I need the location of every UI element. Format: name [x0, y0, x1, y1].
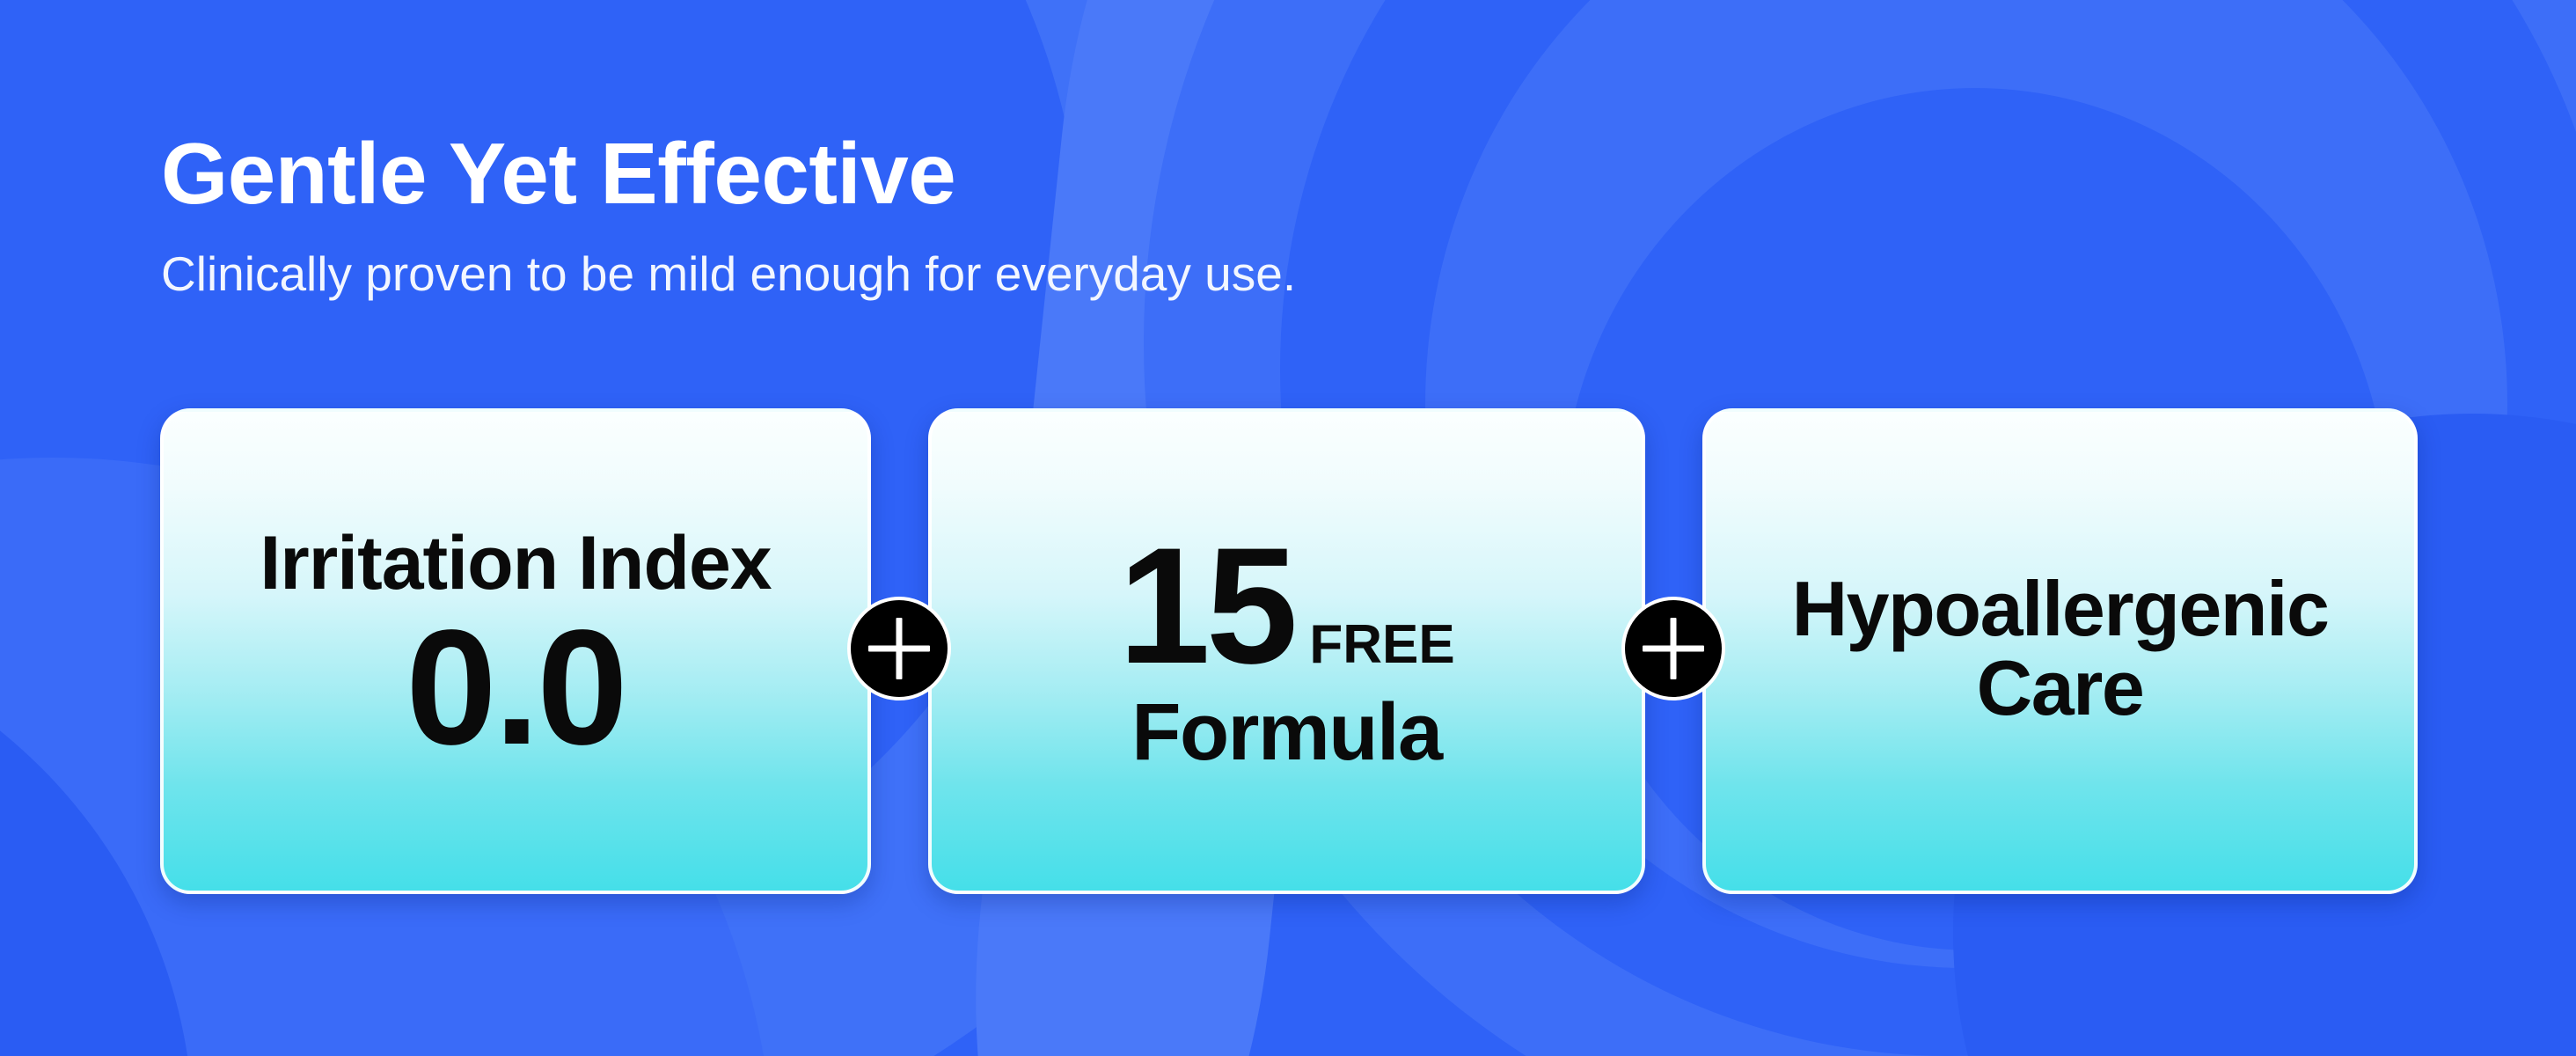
promo-banner: Gentle Yet Effective Clinically proven t…	[0, 0, 2576, 1056]
free-count-number: 15	[1118, 523, 1293, 688]
feature-card-irritation-index[interactable]: Irritation Index 0.0	[160, 408, 871, 894]
feature-card-hypoallergenic-care[interactable]: Hypoallergenic Care	[1702, 408, 2418, 894]
banner-copy: Gentle Yet Effective Clinically proven t…	[161, 130, 1296, 298]
card-content: Irritation Index 0.0	[237, 525, 794, 771]
free-qualifier-label: FREE	[1309, 618, 1454, 672]
irritation-index-label: Irritation Index	[260, 525, 771, 603]
plus-icon	[1621, 597, 1725, 700]
card-content: Hypoallergenic Care	[1769, 569, 2352, 728]
irritation-index-value: 0.0	[260, 605, 771, 772]
plus-icon	[847, 597, 951, 700]
page-title: Gentle Yet Effective	[161, 130, 1296, 216]
card-content: 15 FREE Formula	[1095, 523, 1477, 774]
formula-label: Formula	[1118, 692, 1454, 774]
feature-card-15-free-formula[interactable]: 15 FREE Formula	[928, 408, 1645, 894]
feature-card-row: Irritation Index 0.0 15 FREE Formula Hyp…	[160, 408, 2418, 894]
page-subtitle: Clinically proven to be mild enough for …	[161, 250, 1296, 298]
fifteen-free-row: 15 FREE	[1118, 523, 1454, 688]
hypoallergenic-label-line1: Hypoallergenic	[1792, 569, 2329, 649]
hypoallergenic-label-line2: Care	[1792, 649, 2329, 728]
